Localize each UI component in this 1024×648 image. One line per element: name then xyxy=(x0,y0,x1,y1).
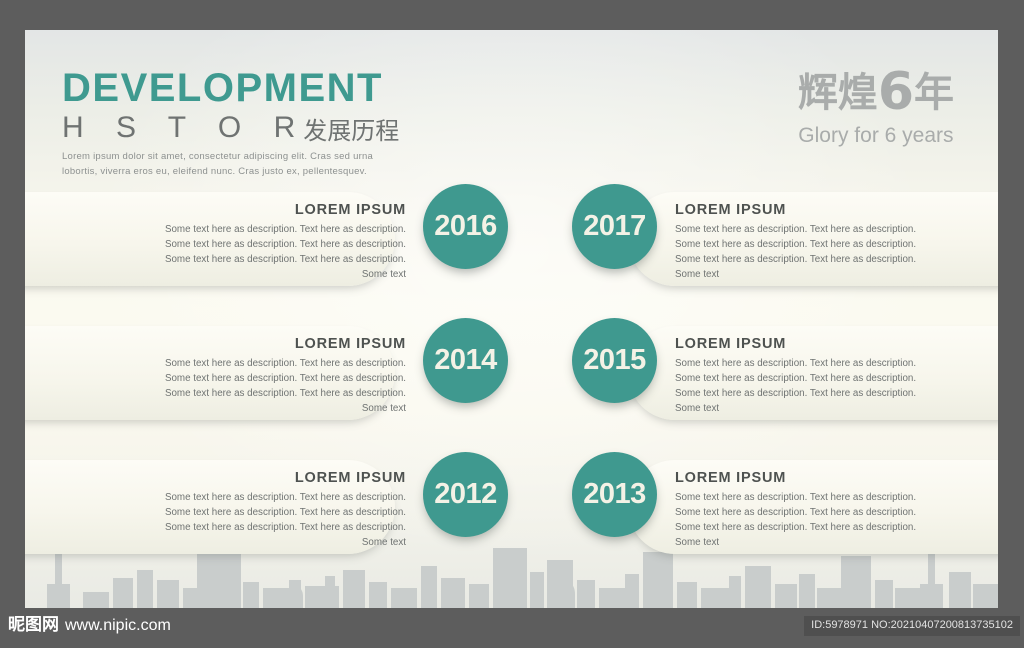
timeline-year-label: 2016 xyxy=(434,210,497,243)
timeline-title: LOREM IPSUM xyxy=(675,470,928,486)
timeline-title: LOREM IPSUM xyxy=(153,202,406,218)
glory-cn-suffix: 年 xyxy=(914,70,954,116)
timeline-text-right: LOREM IPSUM Some text here as descriptio… xyxy=(675,336,928,417)
asset-id-badge: ID:5978971 NO:20210407200813735102 xyxy=(804,616,1020,636)
timeline-text-left: LOREM IPSUM Some text here as descriptio… xyxy=(153,336,406,417)
nipic-url: www.nipic.com xyxy=(65,618,171,634)
timeline-title: LOREM IPSUM xyxy=(153,470,406,486)
page-subtitle-cn: 发展历程 xyxy=(303,119,399,143)
timeline-year-badge-2016[interactable]: 2016 xyxy=(423,184,508,269)
subtitle-row: H S T O R 发展历程 xyxy=(62,113,399,143)
page-subtitle: H S T O R xyxy=(62,113,307,143)
timeline-year-label: 2015 xyxy=(583,344,646,377)
timeline-year-label: 2013 xyxy=(583,478,646,511)
timeline-body: Some text here as description. Text here… xyxy=(153,491,406,551)
timeline-year-badge-2012[interactable]: 2012 xyxy=(423,452,508,537)
nipic-logo-cn: 昵图网 xyxy=(8,617,59,634)
timeline-title: LOREM IPSUM xyxy=(675,202,928,218)
timeline-title: LOREM IPSUM xyxy=(153,336,406,352)
timeline-body: Some text here as description. Text here… xyxy=(675,357,928,417)
timeline-title: LOREM IPSUM xyxy=(675,336,928,352)
timeline-body: Some text here as description. Text here… xyxy=(153,223,406,283)
timeline-year-label: 2017 xyxy=(583,210,646,243)
poster-canvas: DEVELOPMENT H S T O R 发展历程 Lorem ipsum d… xyxy=(25,30,998,608)
page-title: DEVELOPMENT xyxy=(62,68,399,108)
timeline-row: LOREM IPSUM Some text here as descriptio… xyxy=(25,178,998,312)
timeline-year-label: 2014 xyxy=(434,344,497,377)
timeline: LOREM IPSUM Some text here as descriptio… xyxy=(25,178,998,580)
timeline-text-left: LOREM IPSUM Some text here as descriptio… xyxy=(153,470,406,551)
timeline-row: LOREM IPSUM Some text here as descriptio… xyxy=(25,446,998,580)
glory-badge: 辉煌6年 Glory for 6 years xyxy=(798,66,954,146)
timeline-year-badge-2017[interactable]: 2017 xyxy=(572,184,657,269)
timeline-body: Some text here as description. Text here… xyxy=(675,491,928,551)
poster-stage: DEVELOPMENT H S T O R 发展历程 Lorem ipsum d… xyxy=(0,0,1024,648)
nipic-logo[interactable]: 昵图网 www.nipic.com xyxy=(8,617,171,634)
timeline-body: Some text here as description. Text here… xyxy=(153,357,406,417)
timeline-body: Some text here as description. Text here… xyxy=(675,223,928,283)
timeline-year-label: 2012 xyxy=(434,478,497,511)
glory-number: 6 xyxy=(878,62,914,122)
timeline-text-left: LOREM IPSUM Some text here as descriptio… xyxy=(153,202,406,283)
watermark-footer: 昵图网 www.nipic.com ID:5978971 NO:20210407… xyxy=(0,608,1024,648)
timeline-year-badge-2015[interactable]: 2015 xyxy=(572,318,657,403)
timeline-year-badge-2014[interactable]: 2014 xyxy=(423,318,508,403)
glory-cn-prefix: 辉煌 xyxy=(798,70,878,116)
timeline-year-badge-2013[interactable]: 2013 xyxy=(572,452,657,537)
poster-header: DEVELOPMENT H S T O R 发展历程 Lorem ipsum d… xyxy=(62,68,399,179)
glory-cn-line: 辉煌6年 xyxy=(798,66,954,118)
timeline-row: LOREM IPSUM Some text here as descriptio… xyxy=(25,312,998,446)
timeline-text-right: LOREM IPSUM Some text here as descriptio… xyxy=(675,202,928,283)
glory-en-line: Glory for 6 years xyxy=(798,125,954,146)
header-lead-text: Lorem ipsum dolor sit amet, consectetur … xyxy=(62,150,382,179)
timeline-text-right: LOREM IPSUM Some text here as descriptio… xyxy=(675,470,928,551)
